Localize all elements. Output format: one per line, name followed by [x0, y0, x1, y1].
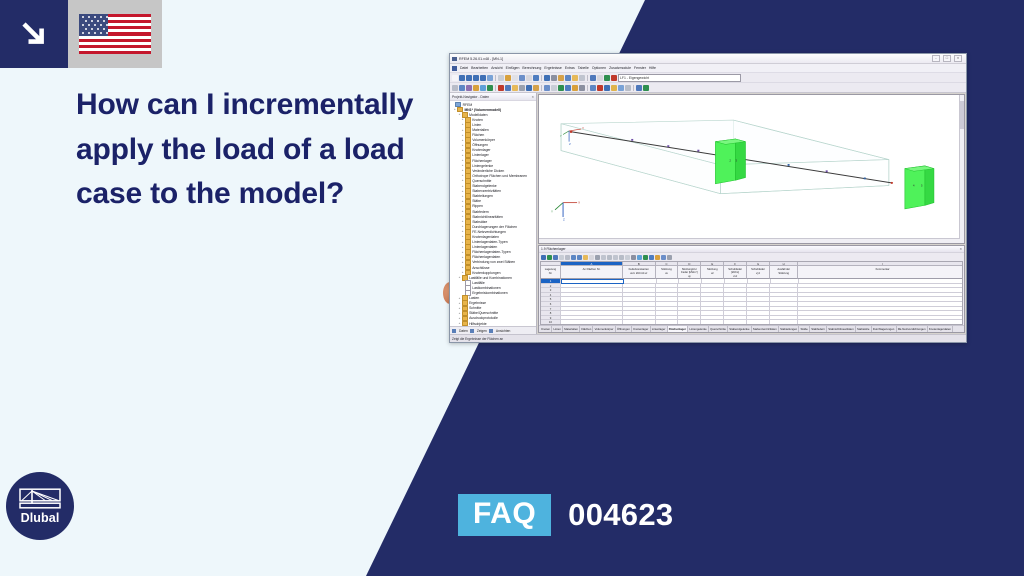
navigator-header: Projekt-Navigator - Daten ✕: [450, 93, 536, 101]
brand-name: Dlubal: [21, 511, 60, 525]
tree-item-label: Anschlüsse: [472, 266, 489, 270]
tree-item-label: Durchlagerungen der Flächen: [472, 225, 517, 229]
table-cell[interactable]: [623, 320, 656, 324]
page-title: How can I incrementally apply the load o…: [76, 83, 416, 217]
panel-close-icon[interactable]: ✕: [531, 95, 534, 99]
table-toolbar-button-18[interactable]: [643, 255, 648, 260]
grid-rows[interactable]: 123456789101112: [541, 279, 962, 324]
tree-item-label: Knotenlager: [472, 148, 490, 152]
toolbar-separator: [587, 85, 588, 91]
table-toolbar-button-10[interactable]: [595, 255, 600, 260]
data-tab-icon: [452, 329, 456, 333]
toolbar-button-5[interactable]: [480, 85, 486, 91]
grid-header-line: Schubfeder [kN/m]: [724, 267, 746, 274]
rfem-app-icon: [452, 56, 457, 61]
tree-item-label: Knotenkopplungen: [472, 271, 500, 275]
sheet-tab[interactable]: Materialien: [563, 326, 580, 332]
toolbar-button-14[interactable]: [551, 75, 557, 81]
tree-item-label: Stabsätze: [472, 220, 487, 224]
grid-header-line: ux: [656, 271, 678, 275]
toolbar-button-12[interactable]: [533, 85, 539, 91]
tree-item-label: MN1* (Volumenmodell): [464, 108, 501, 112]
table-toolbar-button-9[interactable]: [589, 255, 594, 260]
toolbar-separator: [541, 85, 542, 91]
viewport-vertical-scrollbar[interactable]: [959, 95, 964, 243]
toolbar-button-7[interactable]: [498, 75, 504, 81]
table-toolbar-button-7[interactable]: [577, 255, 582, 260]
sheet-tab[interactable]: Stabnichtlinearitäten: [827, 326, 856, 332]
grid-column-header[interactable]: Stützung/zur Feder [kN/m³]uy: [678, 266, 701, 279]
toolbar-button-19[interactable]: [590, 85, 596, 91]
maximize-button[interactable]: ☐: [943, 55, 951, 62]
views-tab-icon: [489, 329, 493, 333]
sheet-tab[interactable]: Durchlagerungen: [872, 326, 897, 332]
table-cell[interactable]: [747, 320, 770, 324]
model-tree[interactable]: RFEM+MN1* (Volumenmodell)+Modelldaten+Kn…: [450, 101, 536, 326]
arrow-down-right-icon: [17, 17, 51, 51]
sheet-tab[interactable]: Querschnitte: [709, 326, 728, 332]
grid-column-header[interactable]: Stützungux: [656, 266, 679, 279]
sheet-tab[interactable]: Stabsätze: [856, 326, 872, 332]
menu-bar[interactable]: Datei Bearbeiten Ansicht Einfügen Berech…: [450, 64, 966, 73]
row-number[interactable]: 10: [541, 320, 561, 324]
toolbar-button-5[interactable]: [480, 75, 486, 81]
table-toolbar-button-1[interactable]: [541, 255, 546, 260]
grid-column-header[interactable]: An Flächen Nr.: [561, 266, 623, 279]
toolbar-button-15[interactable]: [558, 85, 564, 91]
toolbar-button-8[interactable]: [505, 85, 511, 91]
scrollbar-thumb[interactable]: [960, 101, 964, 129]
tree-item-label: Flächenlagerdaten-Typen: [472, 250, 510, 254]
display-tab-icon: [470, 329, 474, 333]
sheet-tab[interactable]: Knotenlagerdaten: [928, 326, 953, 332]
sheet-tab[interactable]: Stabexzentrizitäten: [752, 326, 779, 332]
grid-header-line: Stützung/zur Feder [kN/m³]: [678, 267, 700, 274]
toolbar-button-18[interactable]: [579, 75, 585, 81]
grid-header-line: uz: [701, 271, 723, 275]
sheet-tab[interactable]: Stabfedern: [810, 326, 827, 332]
grid-header-line: Stützung: [770, 271, 797, 275]
tree-item-label: Querschnitte: [472, 179, 491, 183]
sheet-tab[interactable]: Flächenlager: [668, 326, 689, 332]
arrow-down-right-badge: [0, 0, 68, 68]
coordinate-axes-icon: X Y Z: [551, 201, 580, 222]
sheet-tab[interactable]: Stabteilungen: [779, 326, 799, 332]
menu-item-hilfe[interactable]: Hilfe: [649, 66, 656, 70]
table-toolbar-button-16[interactable]: [631, 255, 636, 260]
tree-item-label: Stabexzentrizitäten: [472, 189, 501, 193]
table-toolbar-button-6[interactable]: [571, 255, 576, 260]
table-cell[interactable]: [798, 320, 962, 324]
toolbar-separator: [633, 85, 634, 91]
tree-item-label: Flächen: [472, 133, 484, 137]
toolbar-button-12[interactable]: [533, 75, 539, 81]
model-3d-viewport[interactable]: 2 3 4 5 X Y: [538, 94, 965, 244]
tree-item-label: Stäbe/Querschnitte: [469, 311, 498, 315]
toolbar-button-20[interactable]: [597, 75, 603, 81]
tree-item-label: Stabendgelenke: [472, 184, 497, 188]
toolbar-button-25[interactable]: [636, 85, 642, 91]
grid-column-header[interactable]: Kommentar: [798, 266, 963, 279]
panel-close-icon[interactable]: ✕: [959, 247, 962, 251]
tree-item-label: Schnitte: [469, 306, 481, 310]
tree-item-label: Lasten: [469, 296, 479, 300]
tree-item-label: Stabfedern: [472, 210, 489, 214]
tab-daten[interactable]: Daten: [459, 329, 468, 333]
table-cell[interactable]: [561, 320, 623, 324]
grid-column-header[interactable]: Schubfeder [kN/m]vxz: [724, 266, 747, 279]
toolbar-button-16[interactable]: [565, 75, 571, 81]
window-title: RFEM 5.26.01.x48 - [MN-1]: [459, 57, 503, 61]
toolbar-button-22[interactable]: [611, 85, 617, 91]
toolbar-button-4[interactable]: [473, 75, 479, 81]
toolbar-separator: [587, 75, 588, 81]
work-area: 2 3 4 5 X Y: [537, 93, 966, 334]
toolbar-button-9[interactable]: [512, 75, 518, 81]
table-toolbar-button-12[interactable]: [607, 255, 612, 260]
toolbar-button-23[interactable]: [618, 85, 624, 91]
tree-item-label: Flächenlagerdaten: [472, 255, 500, 259]
grid-column-header[interactable]: Federkonstantenvert. kN/m3 uz: [623, 266, 656, 279]
toolbar-button-15[interactable]: [558, 75, 564, 81]
window-body: Projekt-Navigator - Daten ✕ RFEM+MN1* (V…: [450, 93, 966, 334]
toolbar-button-13[interactable]: [544, 75, 550, 81]
window-titlebar: RFEM 5.26.01.x48 - [MN-1] – ☐ ✕: [450, 54, 966, 64]
tree-item-label: Veränderliche Dicken: [472, 169, 504, 173]
tree-item-label: Linienlager: [472, 153, 489, 157]
status-text: Zeigt die Ergebnisse der Flächen an: [452, 337, 503, 341]
project-navigator-panel[interactable]: Projekt-Navigator - Daten ✕ RFEM+MN1* (V…: [450, 93, 537, 334]
table-toolbar-button-22[interactable]: [667, 255, 672, 260]
toolbar-button-11[interactable]: [526, 75, 532, 81]
grid-column-header[interactable]: Stützunguz: [701, 266, 724, 279]
grid-header-line: vyz: [747, 271, 769, 275]
toolbar-button-10[interactable]: [519, 85, 525, 91]
toolbar-button-26[interactable]: [643, 85, 649, 91]
toolbar-button-2[interactable]: [459, 85, 465, 91]
toolbar-button-8[interactable]: [505, 75, 511, 81]
svg-text:Z: Z: [563, 218, 565, 222]
toolbar-button-21[interactable]: [604, 75, 610, 81]
us-flag-icon: [79, 14, 151, 54]
toolbar-button-10[interactable]: [519, 75, 525, 81]
tree-item-label: Lastfälle und Kombinationen: [469, 276, 512, 280]
model-3d-geometry: 2 3 4 5 X Y: [539, 95, 964, 243]
toolbar-button-3[interactable]: [466, 85, 472, 91]
menu-item-einfuegen[interactable]: Einfügen: [506, 66, 520, 70]
grid-header-line: Nr.: [541, 271, 560, 275]
tree-item-label: Ergebniskombinationen: [472, 291, 507, 295]
sheet-tab[interactable]: Öffnungen: [616, 326, 632, 332]
sheet-tab[interactable]: Stabendgelenke: [728, 326, 752, 332]
toolbar-button-18[interactable]: [579, 85, 585, 91]
toolbar-button-7[interactable]: [498, 85, 504, 91]
toolbar-button-1[interactable]: [452, 85, 458, 91]
tree-item-label: Knoten: [472, 118, 483, 122]
tree-item-label: Volumenkörper: [472, 138, 495, 142]
menu-item-fenster[interactable]: Fenster: [634, 66, 646, 70]
table-toolbar-button-17[interactable]: [637, 255, 642, 260]
toolbar-separator: [541, 75, 542, 81]
tab-zeigen[interactable]: Zeigen: [477, 329, 487, 333]
table-toolbar-button-2[interactable]: [547, 255, 552, 260]
viewport-horizontal-scrollbar[interactable]: [539, 238, 960, 243]
toolbar-button-4[interactable]: [473, 85, 479, 91]
truss-bridge-icon: [18, 488, 62, 510]
toolbar-button-13[interactable]: [544, 85, 550, 91]
tree-item-label: Rippen: [472, 204, 483, 208]
menu-item-optionen[interactable]: Optionen: [592, 66, 606, 70]
secondary-toolbar[interactable]: [450, 83, 966, 93]
window-controls[interactable]: – ☐ ✕: [932, 55, 964, 62]
sheet-tab[interactable]: Liniengelenke: [688, 326, 709, 332]
sheet-tab[interactable]: Volumenkörper: [593, 326, 615, 332]
tree-item-label: FE-Netzverdichtungen: [472, 230, 506, 234]
grid-header-line: An Flächen Nr.: [561, 267, 622, 271]
toolbar-separator: [495, 85, 496, 91]
table-panel[interactable]: 1.9 Flächenlager ✕ ABCDEFGHI LagerungNr.…: [538, 245, 965, 333]
table-cell[interactable]: [678, 320, 701, 324]
toolbar-button-11[interactable]: [526, 85, 532, 91]
tree-item-label: Flächenlager: [472, 159, 492, 163]
tree-item-label: Ausdruckprotokolle: [469, 316, 498, 320]
table-toolbar-button-4[interactable]: [559, 255, 564, 260]
toolbar-button-16[interactable]: [565, 85, 571, 91]
table-cell[interactable]: [770, 320, 798, 324]
table-title: 1.9 Flächenlager: [541, 247, 566, 251]
toolbar-button-21[interactable]: [604, 85, 610, 91]
tree-item-label: Linien: [472, 123, 481, 127]
table-cell[interactable]: [656, 320, 679, 324]
svg-text:Y: Y: [551, 210, 553, 214]
table-toolbar-button-20[interactable]: [655, 255, 660, 260]
dlubal-logo: Dlubal: [6, 472, 74, 540]
tree-item-label: Stabnichtlinearitäten: [472, 215, 503, 219]
top-left-badges: [0, 0, 162, 68]
sheet-tab[interactable]: Knotenlager: [632, 326, 650, 332]
tree-item-label: Öffnungen: [472, 143, 488, 147]
menu-item-datei[interactable]: Datei: [460, 66, 468, 70]
tree-item-label: Hilfsobjekte: [469, 322, 487, 326]
sheet-tab[interactable]: Knoten: [540, 326, 552, 332]
sheet-tab[interactable]: Stäbe: [799, 326, 810, 332]
grid-header-line: vert. kN/m3 uz: [623, 271, 655, 275]
table-toolbar-button-11[interactable]: [601, 255, 606, 260]
toolbar-button-9[interactable]: [512, 85, 518, 91]
status-bar: Zeigt die Ergebnisse der Flächen an: [450, 334, 966, 342]
toolbar-button-22[interactable]: [611, 75, 617, 81]
tree-item-label: Liniengelenke: [472, 164, 493, 168]
table-toolbar[interactable]: [539, 253, 964, 261]
toolbar-button-6[interactable]: [487, 75, 493, 81]
tree-item-label: Knotenlagerdaten: [472, 235, 499, 239]
table-toolbar-button-5[interactable]: [565, 255, 570, 260]
table-row[interactable]: 10: [541, 320, 962, 324]
tree-item-label: Modelldaten: [469, 113, 487, 117]
table-toolbar-button-13[interactable]: [613, 255, 618, 260]
table-panel-header: 1.9 Flächenlager ✕: [539, 246, 964, 253]
faq-footer: FAQ 004623: [458, 494, 673, 536]
tree-item-label: Lastkombinationen: [472, 286, 500, 290]
tree-item-label: Stabteilungen: [472, 194, 493, 198]
minimize-button[interactable]: –: [932, 55, 940, 62]
table-cell[interactable]: [724, 320, 747, 324]
table-toolbar-button-8[interactable]: [583, 255, 588, 260]
sheet-tab[interactable]: Linien: [552, 326, 563, 332]
main-toolbar[interactable]: LF1 - Eigengewicht: [450, 73, 966, 83]
tree-expand-icon[interactable]: +: [458, 275, 462, 280]
toolbar-button-14[interactable]: [551, 85, 557, 91]
sheet-tab[interactable]: Flächen: [580, 326, 593, 332]
toolbar-button-24[interactable]: [625, 85, 631, 91]
menu-item-bearbeiten[interactable]: Bearbeiten: [471, 66, 488, 70]
tree-item-label: Lastfälle: [472, 281, 485, 285]
load-case-combo[interactable]: LF1 - Eigengewicht: [618, 74, 741, 82]
menu-item-tabelle[interactable]: Tabelle: [578, 66, 589, 70]
table-toolbar-button-15[interactable]: [625, 255, 630, 260]
navigator-tabs[interactable]: Daten Zeigen Ansichten: [450, 326, 536, 334]
svg-text:X: X: [578, 201, 580, 205]
toolbar-separator: [495, 75, 496, 81]
sheet-tab[interactable]: Linienlager: [651, 326, 668, 332]
menu-item-ansicht[interactable]: Ansicht: [491, 66, 502, 70]
menu-item-berechnung[interactable]: Berechnung: [522, 66, 541, 70]
rfem-application-window[interactable]: RFEM 5.26.01.x48 - [MN-1] – ☐ ✕ Datei Be…: [449, 53, 967, 343]
toolbar-button-3[interactable]: [466, 75, 472, 81]
toolbar-button-17[interactable]: [572, 85, 578, 91]
document-icon: [452, 66, 457, 71]
tree-item-label: Linienlagerdaten: [472, 245, 497, 249]
grid-header-line: vxz: [724, 274, 746, 278]
tab-ansichten[interactable]: Ansichten: [496, 329, 510, 333]
toolbar-button-6[interactable]: [487, 85, 493, 91]
menu-item-ergebnisse[interactable]: Ergebnisse: [544, 66, 562, 70]
tree-item-label: RFEM: [463, 103, 473, 107]
navigator-title: Projekt-Navigator - Daten: [452, 95, 489, 99]
table-toolbar-button-14[interactable]: [619, 255, 624, 260]
faq-badge: FAQ: [458, 494, 551, 536]
table-toolbar-button-19[interactable]: [649, 255, 654, 260]
grid-header-line: Kommentar: [798, 267, 963, 271]
tree-item-label: Linienlagerdaten-Typen: [472, 240, 507, 244]
tree-item-label: Verbindung von zwei Stäben: [472, 260, 515, 264]
toolbar-button-19[interactable]: [590, 75, 596, 81]
tree-item-label: Stäbe: [472, 199, 481, 203]
toolbar-button-2[interactable]: [459, 75, 465, 81]
toolbar-button-17[interactable]: [572, 75, 578, 81]
toolbar-button-20[interactable]: [597, 85, 603, 91]
tree-item-label: Orthotrope Flächen und Membranen: [472, 174, 527, 178]
grid-column-header[interactable]: LagerungNr.: [541, 266, 561, 279]
menu-item-extras[interactable]: Extras: [565, 66, 575, 70]
grid-column-header[interactable]: Schubfedervyz: [747, 266, 770, 279]
faq-number: 004623: [568, 497, 673, 533]
data-grid[interactable]: ABCDEFGHI LagerungNr.An Flächen Nr.Feder…: [540, 261, 963, 325]
sheet-tab[interactable]: FE-Netzverdichtungen: [897, 326, 928, 332]
menu-item-zusatzmodule[interactable]: Zusatzmodule: [609, 66, 631, 70]
table-sheet-tabs[interactable]: KnotenLinienMaterialienFlächenVolumenkör…: [539, 325, 964, 332]
grid-column-header[interactable]: Ausfall derStützung: [770, 266, 798, 279]
table-cell[interactable]: [701, 320, 724, 324]
tree-item-label: Ergebnisse: [469, 301, 486, 305]
table-toolbar-button-3[interactable]: [553, 255, 558, 260]
us-flag-badge: [68, 0, 162, 68]
grid-header-line: uy: [678, 274, 700, 278]
grid-column-headers: LagerungNr.An Flächen Nr.Federkonstanten…: [541, 266, 962, 279]
toolbar-button-1[interactable]: [452, 75, 458, 81]
tree-item-label: Materialien: [472, 128, 489, 132]
close-button[interactable]: ✕: [954, 55, 962, 62]
table-toolbar-button-21[interactable]: [661, 255, 666, 260]
